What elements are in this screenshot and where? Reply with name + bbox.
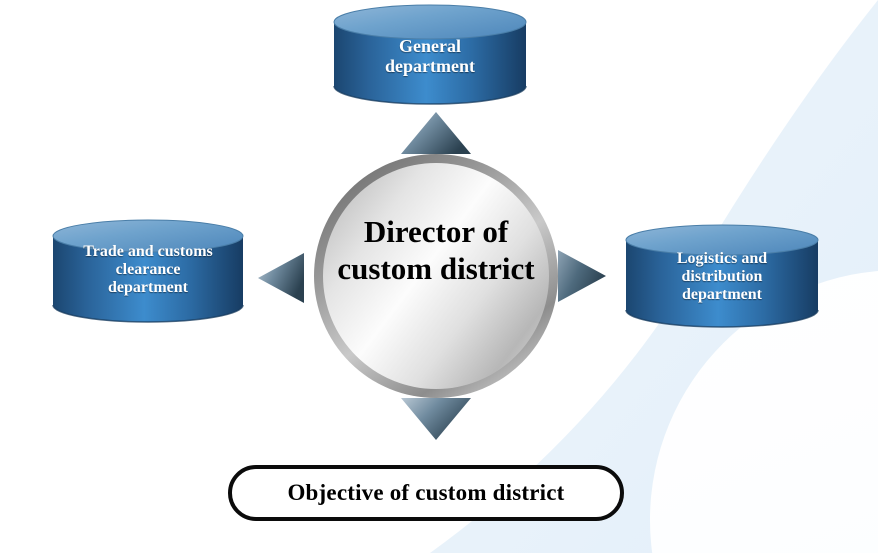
trade-and-customs-clearance-department-node[interactable]: Trade and customs clearance department bbox=[51, 219, 245, 323]
general-department-node[interactable]: General department bbox=[332, 4, 528, 104]
arrow-right-icon bbox=[556, 248, 608, 304]
objective-node[interactable]: Objective of custom district bbox=[228, 465, 624, 521]
diagram-canvas: General department bbox=[0, 0, 878, 553]
logistics-and-distribution-department-node[interactable]: Logistics and distribution department bbox=[624, 224, 820, 328]
director-node[interactable]: Director of custom district bbox=[312, 152, 560, 400]
objective-label: Objective of custom district bbox=[287, 480, 564, 506]
arrow-down-icon bbox=[399, 396, 473, 442]
arrow-left-icon bbox=[256, 251, 306, 305]
arrow-up-icon bbox=[399, 110, 473, 156]
